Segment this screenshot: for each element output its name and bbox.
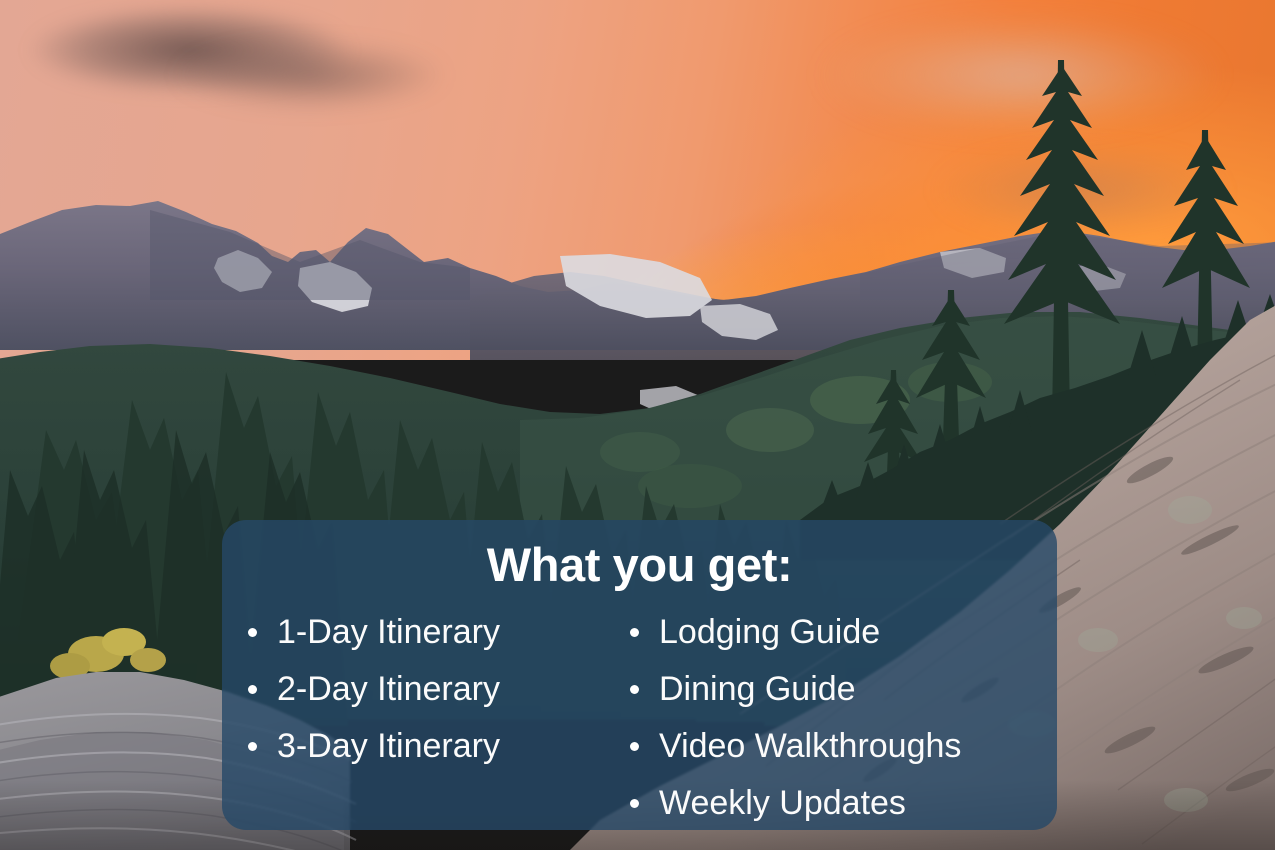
itinerary-list: 1-Day Itinerary 2-Day Itinerary 3-Day It… (248, 604, 608, 775)
list-item: Lodging Guide (630, 604, 1057, 661)
list-item: Weekly Updates (630, 775, 1057, 830)
bullet-icon (248, 742, 257, 751)
list-item: 2-Day Itinerary (248, 661, 608, 718)
list-item-label: Weekly Updates (659, 775, 906, 830)
list-item-label: Dining Guide (659, 661, 856, 718)
bullet-icon (630, 799, 639, 808)
list-item: Video Walkthroughs (630, 718, 1057, 775)
bullet-icon (630, 742, 639, 751)
column-itineraries: 1-Day Itinerary 2-Day Itinerary 3-Day It… (248, 604, 608, 830)
what-you-get-card: What you get: 1-Day Itinerary 2-Day Itin… (222, 520, 1057, 830)
card-title: What you get: (222, 541, 1057, 588)
promo-graphic: What you get: 1-Day Itinerary 2-Day Itin… (0, 0, 1275, 850)
list-item: Dining Guide (630, 661, 1057, 718)
list-item: 1-Day Itinerary (248, 604, 608, 661)
bullet-icon (630, 628, 639, 637)
list-item-label: 1-Day Itinerary (277, 604, 500, 661)
column-guides: Lodging Guide Dining Guide Video Walkthr… (630, 604, 1057, 830)
bullet-icon (248, 685, 257, 694)
feature-columns: 1-Day Itinerary 2-Day Itinerary 3-Day It… (222, 604, 1057, 830)
bullet-icon (248, 628, 257, 637)
list-item-label: Video Walkthroughs (659, 718, 961, 775)
bullet-icon (630, 685, 639, 694)
list-item-label: 2-Day Itinerary (277, 661, 500, 718)
aspen-foliage (50, 628, 166, 679)
list-item-label: Lodging Guide (659, 604, 880, 661)
list-item: 3-Day Itinerary (248, 718, 608, 775)
list-item-label: 3-Day Itinerary (277, 718, 500, 775)
guides-list: Lodging Guide Dining Guide Video Walkthr… (630, 604, 1057, 830)
